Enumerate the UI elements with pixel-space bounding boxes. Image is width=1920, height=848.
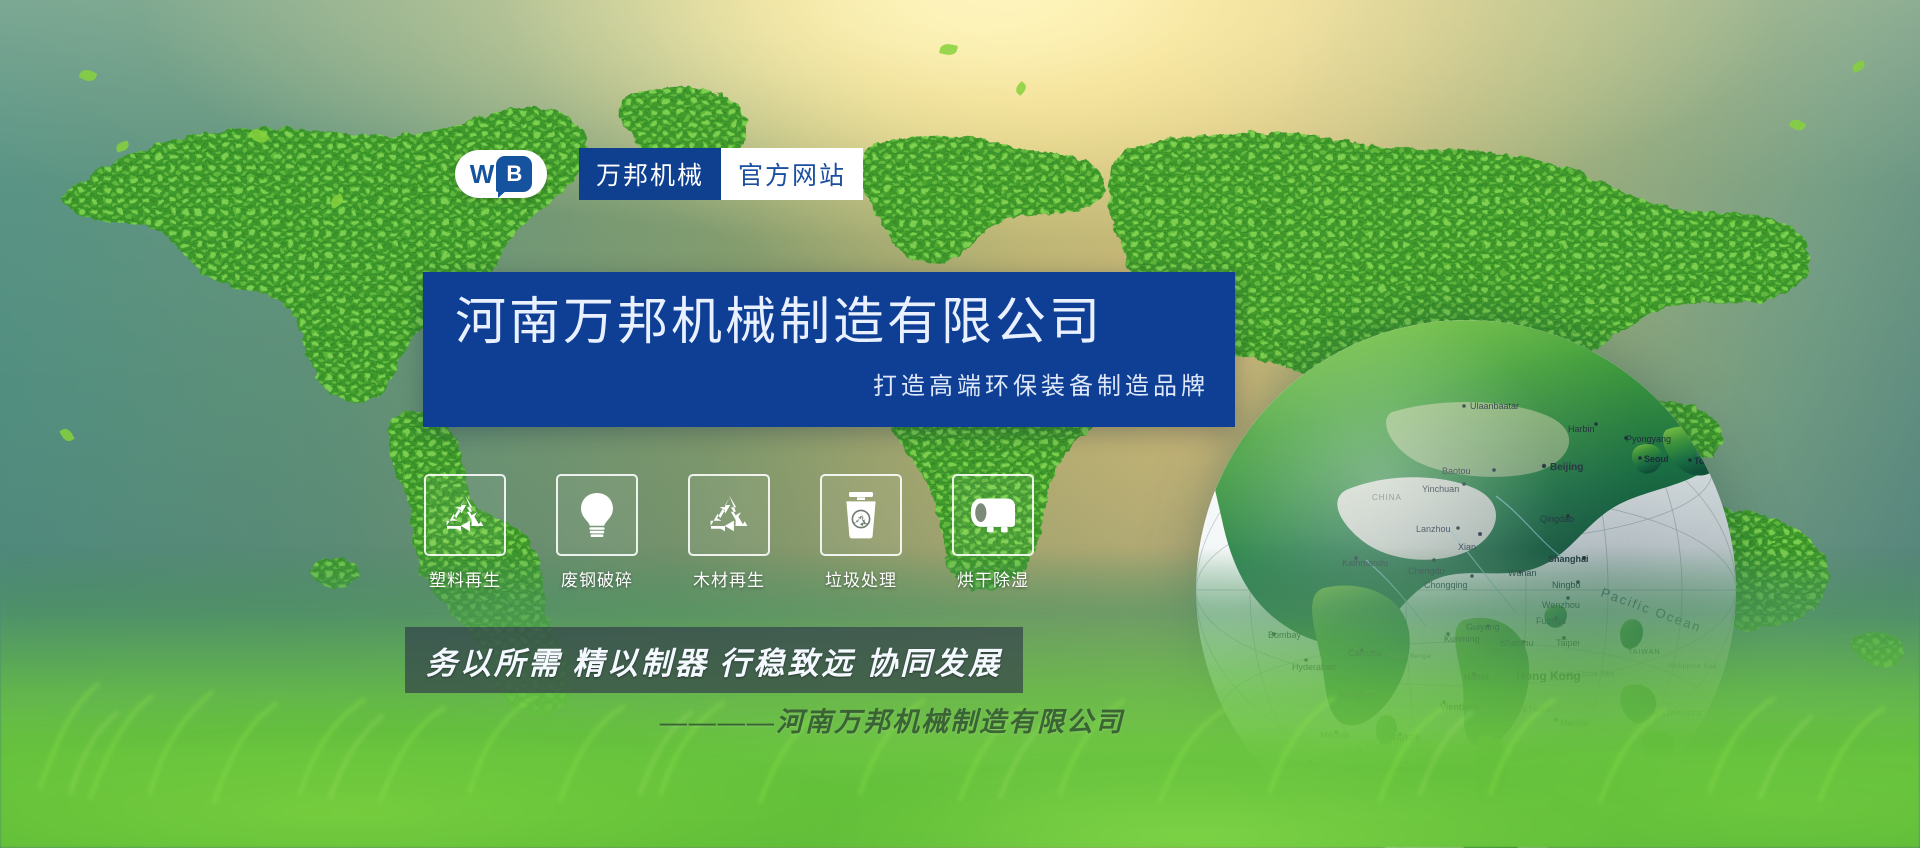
page-subtitle: 打造高端环保装备制造品牌 <box>423 366 1209 401</box>
logo-bar[interactable]: W B 万邦机械 官方网站 <box>455 148 863 200</box>
logo-letter-w: W <box>470 161 493 187</box>
category-item-wood-recycling[interactable]: 木材再生 <box>688 474 770 591</box>
category-item-plastic-recycling[interactable]: 塑料再生 <box>424 474 506 591</box>
category-label: 木材再生 <box>693 566 765 591</box>
slogan-signature: ————河南万邦机械制造有限公司 <box>660 700 1300 739</box>
category-label: 废钢破碎 <box>561 566 633 591</box>
svg-text:Yinchuan: Yinchuan <box>1422 484 1459 494</box>
company-title-banner: 河南万邦机械制造有限公司 打造高端环保装备制造品牌 <box>423 272 1235 427</box>
svg-text:CHINA: CHINA <box>1372 493 1402 502</box>
category-item-drying-dehumidifying[interactable]: 烘干除湿 <box>952 474 1034 591</box>
brand-tabs[interactable]: 万邦机械 官方网站 <box>579 148 863 200</box>
page-title: 河南万邦机械制造有限公司 <box>455 294 1235 350</box>
dryer-machine-icon[interactable] <box>952 474 1034 556</box>
recycle-icon[interactable] <box>688 474 770 556</box>
category-label: 垃圾处理 <box>825 566 897 591</box>
hero-banner: Pacific Ocean Indian Ocean South China S… <box>0 0 1920 848</box>
tab-brand[interactable]: 万邦机械 <box>579 148 721 200</box>
category-item-steel-crushing[interactable]: 废钢破碎 <box>556 474 638 591</box>
svg-text:Pyongyang: Pyongyang <box>1626 434 1671 444</box>
slogan-text: 务以所需 精以制器 行稳致远 协同发展 <box>426 638 1002 683</box>
tab-official-site[interactable]: 官方网站 <box>721 148 863 200</box>
recycle-icon[interactable] <box>424 474 506 556</box>
trash-bin-icon[interactable] <box>820 474 902 556</box>
svg-text:Harbin: Harbin <box>1568 424 1595 434</box>
category-label: 烘干除湿 <box>957 566 1029 591</box>
company-logo-mark[interactable]: W B <box>455 150 547 198</box>
svg-text:Baotou: Baotou <box>1442 466 1471 476</box>
slogan-panel: 务以所需 精以制器 行稳致远 协同发展 <box>405 627 1023 693</box>
speech-bubble-icon: B <box>496 156 532 192</box>
lightbulb-icon[interactable] <box>556 474 638 556</box>
category-label: 塑料再生 <box>429 566 501 591</box>
category-item-waste-treatment[interactable]: 垃圾处理 <box>820 474 902 591</box>
category-icon-row[interactable]: 塑料再生 废钢破碎 木材再生 <box>424 474 1034 591</box>
svg-text:Ulaanbaatar: Ulaanbaatar <box>1470 401 1519 411</box>
svg-text:Seoul: Seoul <box>1644 454 1669 464</box>
logo-letter-b: B <box>506 163 522 185</box>
svg-text:Lanzhou: Lanzhou <box>1416 524 1451 534</box>
svg-text:Qingdao: Qingdao <box>1540 514 1574 524</box>
svg-text:Beijing: Beijing <box>1550 462 1583 473</box>
